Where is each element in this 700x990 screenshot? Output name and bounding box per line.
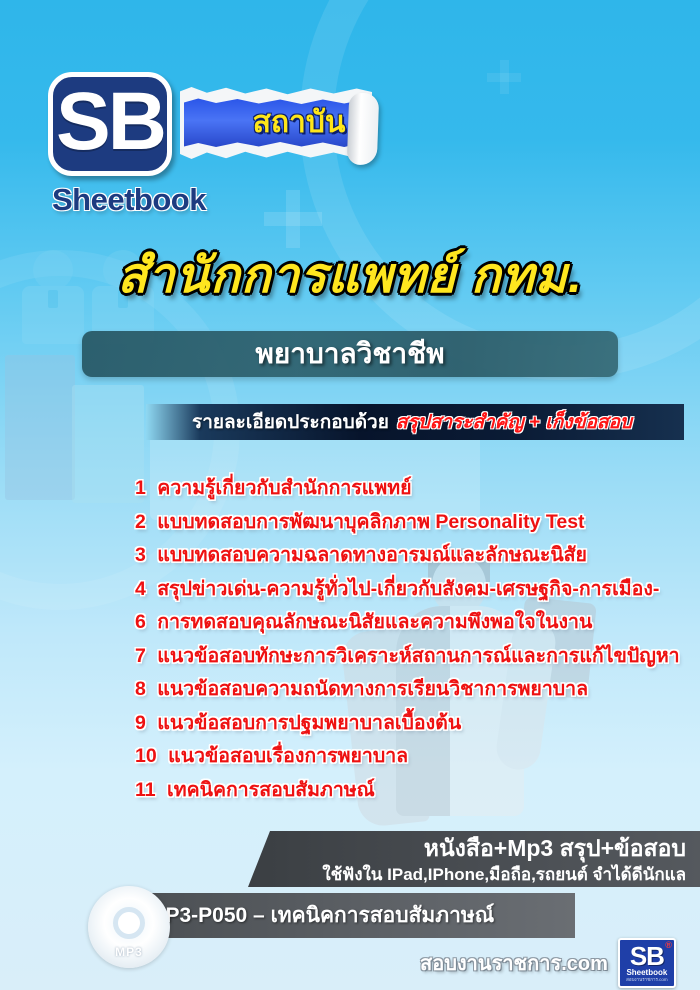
list-item: 1 ความรู้เกี่ยวกับสำนักการแพทย์ xyxy=(135,472,675,506)
list-item: 8 แนวข้อสอบความถนัดทางการเรียนวิชาการพยา… xyxy=(135,673,675,707)
list-item-label: แนวข้อสอบทักษะการวิเคราะห์สถานการณ์และกา… xyxy=(157,645,679,667)
mp3-track-label: MP3-P050 – เทคนิคการสอบสัมภาษณ์ xyxy=(148,899,494,932)
footer-brand: สอบงานราชการ.com ® SB Sheetbook สอบงานรา… xyxy=(420,938,676,988)
list-item-number: 4 xyxy=(135,578,146,600)
sheetbook-logo: สถาบัน SB Sheetbook xyxy=(48,72,206,218)
list-item-number: 11 xyxy=(135,779,156,801)
list-item-number: 10 xyxy=(135,745,157,767)
list-item: 9 แนวข้อสอบการปฐมพยาบาลเบื้องต้น xyxy=(135,707,675,741)
list-item: 3 แบบทดสอบความฉลาดทางอารมณ์และลักษณะนิสั… xyxy=(135,539,675,573)
paper-curl-icon xyxy=(347,92,379,165)
list-item-number: 3 xyxy=(135,544,146,566)
list-item-label: ความรู้เกี่ยวกับสำนักการแพทย์ xyxy=(157,477,411,499)
trademark-icon: ® xyxy=(665,940,672,950)
decorative-arc xyxy=(300,0,700,380)
decorative-block xyxy=(72,385,144,503)
list-item: 6 การทดสอบคุณลักษณะนิสัยและความพึงพอใจใน… xyxy=(135,606,675,640)
list-item-number: 7 xyxy=(135,645,146,667)
position-bar: พยาบาลวิชาชีพ xyxy=(82,331,618,377)
list-item-number: 1 xyxy=(135,477,146,499)
list-item-label: แนวข้อสอบความถนัดทางการเรียนวิชาการพยาบา… xyxy=(157,678,588,700)
page-title: สำนักการแพทย์ กทม. xyxy=(0,236,700,314)
details-highlight: สรุปสาระสำคัญ + เก็งข้อสอบ xyxy=(396,407,632,437)
list-item-label: แบบทดสอบความฉลาดทางอารมณ์และลักษณะนิสัย xyxy=(157,544,587,566)
list-item: 2 แบบทดสอบการพัฒนาบุคลิกภาพ Personality … xyxy=(135,506,675,540)
promo-subline: ใช้ฟังใน IPad,IPhone,มือถือ,รถยนต์ จำได้… xyxy=(248,863,686,887)
badge-initials: SB xyxy=(630,944,664,968)
medical-cross-icon xyxy=(487,73,521,82)
list-item-label: เทคนิคการสอบสัมภาษณ์ xyxy=(167,779,375,801)
list-item-label: แนวข้อสอบการปฐมพยาบาลเบื้องต้น xyxy=(157,712,461,734)
medical-cross-icon xyxy=(264,212,322,226)
list-item-number: 6 xyxy=(135,611,146,633)
sheetbook-badge: ® SB Sheetbook สอบงานราชการ.com xyxy=(618,938,676,988)
decorative-block xyxy=(5,355,75,500)
list-item-number: 9 xyxy=(135,712,146,734)
badge-url: สอบงานราชการ.com xyxy=(626,977,668,983)
list-item-label: การทดสอบคุณลักษณะนิสัยและความพึงพอใจในงา… xyxy=(157,611,592,633)
book-cover: สถาบัน SB Sheetbook สำนักการแพทย์ กทม. พ… xyxy=(0,0,700,990)
list-item-label: สรุปข่าวเด่น-ความรู้ทั่วไป-เกี่ยวกับสังค… xyxy=(157,578,659,600)
badge-name: Sheetbook xyxy=(626,968,667,977)
details-bar: รายละเอียดประกอบด้วย สรุปสาระสำคัญ + เก็… xyxy=(146,404,684,440)
list-item: 10 แนวข้อสอบเรื่องการพยาบาล xyxy=(135,740,675,774)
mp3-track-bar: MP3-P050 – เทคนิคการสอบสัมภาษณ์ xyxy=(120,893,575,938)
list-item-label: แบบทดสอบการพัฒนาบุคลิกภาพ Personality Te… xyxy=(157,511,584,533)
list-item-number: 8 xyxy=(135,678,146,700)
list-item: 11 เทคนิคการสอบสัมภาษณ์ xyxy=(135,774,675,808)
position-label: พยาบาลวิชาชีพ xyxy=(255,332,444,376)
list-item-number: 2 xyxy=(135,511,146,533)
contents-list: 1 ความรู้เกี่ยวกับสำนักการแพทย์ 2 แบบทดส… xyxy=(135,472,675,807)
logo-initials: SB xyxy=(53,77,167,171)
promo-banner: หนังสือ+Mp3 สรุป+ข้อสอบ ใช้ฟังใน IPad,IP… xyxy=(248,831,700,887)
disc-label: MP3 xyxy=(88,945,170,959)
list-item-label: แนวข้อสอบเรื่องการพยาบาล xyxy=(168,745,408,767)
details-label: รายละเอียดประกอบด้วย xyxy=(192,407,389,437)
torn-paper-ribbon: สถาบัน xyxy=(180,87,372,159)
logo-wordmark: Sheetbook xyxy=(52,182,206,218)
ribbon-label: สถาบัน xyxy=(180,87,372,159)
footer-site-label: สอบงานราชการ.com xyxy=(420,947,608,979)
cd-disc-icon: MP3 xyxy=(88,886,170,968)
list-item: 4 สรุปข่าวเด่น-ความรู้ทั่วไป-เกี่ยวกับสั… xyxy=(135,573,675,607)
promo-headline: หนังสือ+Mp3 สรุป+ข้อสอบ xyxy=(248,833,686,863)
list-item: 7 แนวข้อสอบทักษะการวิเคราะห์สถานการณ์และ… xyxy=(135,640,675,674)
logo-mark: SB xyxy=(48,72,172,176)
